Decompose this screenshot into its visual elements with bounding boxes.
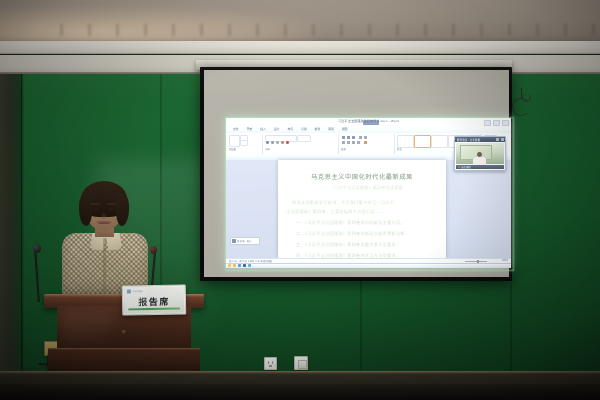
sign-text: 报告席 (123, 294, 185, 308)
document-canvas[interactable]: 马克思主义中国化时代化最新成果 ——《习近平法治国理政》第四卷导读提纲 按照支部… (226, 160, 511, 259)
recording-indicator-icon (458, 166, 460, 168)
speaker-shirt-placket (103, 238, 106, 296)
zoom-slider[interactable] (465, 261, 487, 262)
document-body-line: 法治国理政》第四卷，主要包括四个方面内容—— (286, 209, 384, 215)
share-icon (232, 239, 235, 242)
style-nospacing-button[interactable] (414, 135, 431, 148)
italic-button[interactable] (271, 141, 274, 144)
app-title: 习近平法治国理政第四卷导读.docx - Word (338, 119, 399, 123)
copy-button[interactable] (240, 140, 248, 146)
projected-computer-screen[interactable]: 习近平法治国理政第四卷导读.docx - Word 文件 开始 插入 设计 布局… (226, 118, 511, 268)
paste-button[interactable] (229, 135, 240, 147)
floor-shadow (0, 384, 600, 400)
tab-review[interactable]: 审阅 (327, 127, 335, 131)
speaker-eyebrow-right (107, 203, 116, 205)
document-subtitle: ——《习近平法治国理政》第四卷导读提纲 (278, 185, 446, 191)
ribbon-group-font[interactable]: 字体 (264, 134, 339, 154)
ribbon-group-paragraph[interactable]: 段落 (340, 134, 395, 154)
video-thumbnail-titlebar: 腾讯会议 - 共享屏幕 (455, 137, 505, 142)
document-body-line: 三、《习近平法治国理政》第四卷的重大意义及要求。 (296, 242, 400, 248)
browser-icon[interactable] (238, 264, 241, 267)
ceiling (0, 0, 600, 46)
font-size-select[interactable] (297, 135, 311, 142)
podium-sheen (63, 310, 113, 346)
meeting-icon[interactable] (248, 264, 251, 267)
video-close-icon[interactable] (501, 138, 504, 140)
ribbon-group-label: 样式 (397, 147, 402, 151)
os-taskbar[interactable] (226, 263, 511, 269)
speaker-figure (62, 186, 148, 298)
document-body-line: 一、《习近平法治国理政》第四卷成书构架及主要内容。 (296, 220, 405, 226)
speaker-nose (102, 212, 106, 219)
numbering-button[interactable] (347, 136, 350, 139)
document-page[interactable]: 马克思主义中国化时代化最新成果 ——《习近平法治国理政》第四卷导读提纲 按照支部… (278, 160, 446, 259)
lecture-hall-scene: 习近平法治国理政第四卷导读.docx - Word 文件 开始 插入 设计 布局… (0, 0, 600, 400)
start-icon[interactable] (228, 264, 231, 267)
ribbon-tab-row[interactable]: 文件 开始 插入 设计 布局 引用 邮件 审阅 视图 (232, 127, 348, 131)
bold-button[interactable] (266, 141, 269, 144)
cable-loop-icon (512, 98, 530, 116)
podium-name-sign: 中共党校 报告席 (122, 284, 187, 315)
tab-references[interactable]: 引用 (300, 127, 308, 131)
video-thumbnail-controls[interactable] (496, 138, 504, 140)
podium-base-highlight (48, 348, 200, 350)
document-title: 马克思主义中国化时代化最新成果 (278, 172, 446, 181)
video-thumbnail-footer: 正在录制 (456, 165, 504, 169)
ribbon-group-clipboard[interactable]: 剪贴板 (228, 134, 263, 154)
wall-corner-shadow (21, 74, 24, 374)
light-switch-icon[interactable] (294, 356, 308, 370)
ribbon-group-label: 段落 (341, 147, 346, 151)
share-control-chip[interactable]: 共享中 · 停止 (230, 237, 260, 245)
speaker-mouth (97, 221, 111, 224)
align-center-button[interactable] (347, 141, 350, 144)
font-color-button[interactable] (286, 141, 289, 144)
decrease-indent-button[interactable] (359, 136, 362, 139)
tab-insert[interactable]: 插入 (259, 127, 267, 131)
tab-layout[interactable]: 布局 (286, 127, 294, 131)
speaker-eye-right (108, 207, 115, 210)
tab-view[interactable]: 视图 (341, 127, 349, 131)
power-outlet-icon[interactable] (264, 357, 277, 370)
word-icon[interactable] (243, 264, 246, 267)
microphone-icon-secondary (150, 246, 157, 254)
multilevel-list-button[interactable] (352, 136, 355, 139)
taskbar-icon-row[interactable] (228, 264, 251, 267)
video-thumbnail-title: 腾讯会议 - 共享屏幕 (457, 138, 480, 142)
video-minimize-icon[interactable] (496, 138, 499, 140)
sign-logo-icon (127, 289, 131, 293)
share-chip-label: 共享中 · 停止 (237, 239, 252, 243)
document-body-line: 按照支部集体学习安排，今天我们集中学习《习近平 (292, 200, 394, 206)
tab-design[interactable]: 设计 (273, 127, 281, 131)
ribbon-group-label: 剪贴板 (229, 147, 236, 151)
align-left-button[interactable] (342, 141, 345, 144)
justify-button[interactable] (357, 141, 360, 144)
recording-label: 正在录制 (461, 165, 471, 169)
increase-indent-button[interactable] (364, 136, 367, 139)
podium-knob (122, 330, 126, 334)
sign-header: 中共党校 (127, 289, 143, 293)
baseboard-highlight (0, 371, 600, 374)
tab-home[interactable]: 开始 (246, 127, 254, 131)
video-person-head (477, 152, 482, 157)
microphone-icon (33, 244, 41, 253)
speaker-hair-left (79, 194, 92, 226)
speaker-eye-left (92, 207, 99, 210)
align-right-button[interactable] (352, 141, 355, 144)
highlight-button[interactable] (281, 141, 284, 144)
ceiling-texture (60, 24, 600, 36)
document-body-line: 二、《习近平法治国理政》第四卷的新观点新思想新论断。 (296, 231, 409, 237)
speaker-eyebrow-left (91, 203, 100, 205)
bullets-button[interactable] (342, 136, 345, 139)
tab-mailings[interactable]: 邮件 (314, 127, 322, 131)
ribbon-group-label: 字体 (265, 147, 270, 151)
tab-file[interactable]: 文件 (232, 127, 240, 131)
cable-coil (15, 358, 47, 370)
video-feed (456, 143, 504, 164)
underline-button[interactable] (276, 141, 279, 144)
sign-organization: 中共党校 (132, 289, 142, 293)
video-conference-thumbnail[interactable]: 腾讯会议 - 共享屏幕 正在录制 (454, 136, 506, 171)
video-person-body (473, 157, 486, 165)
style-heading1-button[interactable] (431, 135, 448, 148)
speaker-hair-right (116, 194, 129, 226)
wall-corner-column (0, 74, 22, 374)
sign-accent-rule (128, 307, 180, 310)
shading-button[interactable] (364, 141, 367, 144)
explorer-icon[interactable] (233, 264, 236, 267)
